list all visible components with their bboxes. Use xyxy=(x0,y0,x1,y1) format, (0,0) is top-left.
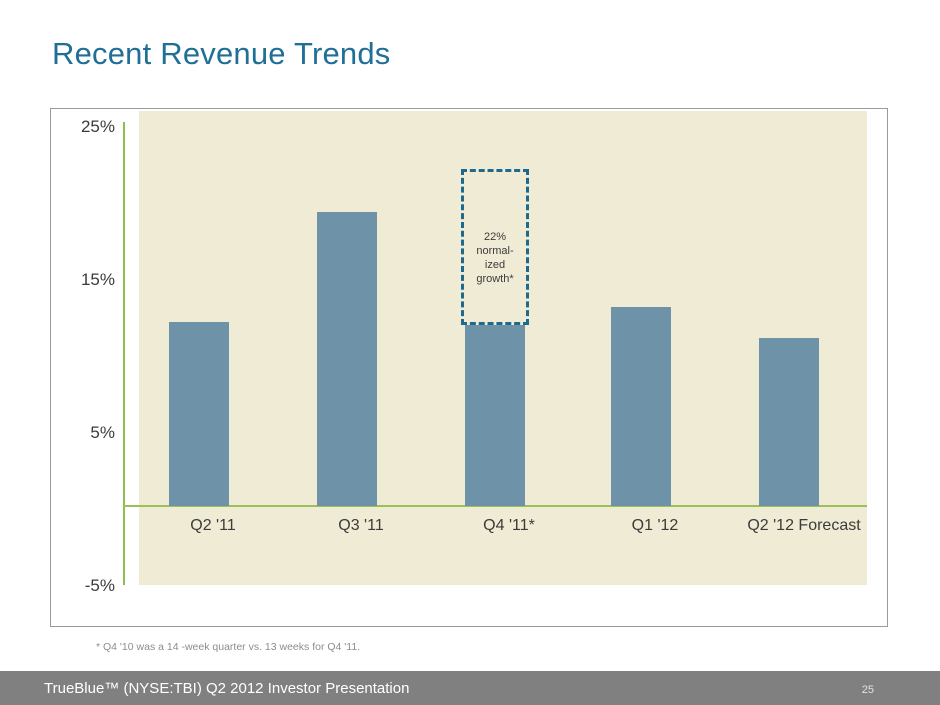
x-axis-label-q4-11: Q4 '11* xyxy=(435,517,583,535)
y-axis-tick-15: 15% xyxy=(55,270,115,290)
bar-q2-11[interactable] xyxy=(169,322,229,506)
normalized-growth-callout: 22% normal- ized growth* xyxy=(461,169,529,325)
normalized-growth-label: 22% normal- ized growth* xyxy=(464,230,526,286)
x-axis-label-q2-12-forecast: Q2 '12 Forecast xyxy=(719,517,889,535)
footer-bar: TrueBlue™ (NYSE:TBI) Q2 2012 Investor Pr… xyxy=(0,671,940,705)
chart-container: 25% 15% 5% -5% 22% normal- ized growth* … xyxy=(50,108,888,627)
bar-q3-11[interactable] xyxy=(317,212,377,506)
footer-presentation-title: TrueBlue™ (NYSE:TBI) Q2 2012 Investor Pr… xyxy=(44,680,409,697)
y-axis-line xyxy=(123,122,125,585)
x-axis-label-q1-12: Q1 '12 xyxy=(581,517,729,535)
footer-page-number: 25 xyxy=(862,684,874,696)
chart-footnote: * Q4 '10 was a 14 -week quarter vs. 13 w… xyxy=(96,641,360,653)
bar-q4-11[interactable] xyxy=(465,325,525,506)
bars-layer: 22% normal- ized growth* xyxy=(139,111,867,506)
bar-q1-12[interactable] xyxy=(611,307,671,506)
x-axis-label-q3-11: Q3 '11 xyxy=(287,517,435,535)
y-axis-tick-5: 5% xyxy=(55,423,115,443)
x-axis-label-q2-11: Q2 '11 xyxy=(139,517,287,535)
page-title: Recent Revenue Trends xyxy=(52,36,391,72)
y-axis-tick-25: 25% xyxy=(55,117,115,137)
bar-q2-12-forecast[interactable] xyxy=(759,338,819,506)
y-axis-tick-minus5: -5% xyxy=(55,576,115,596)
